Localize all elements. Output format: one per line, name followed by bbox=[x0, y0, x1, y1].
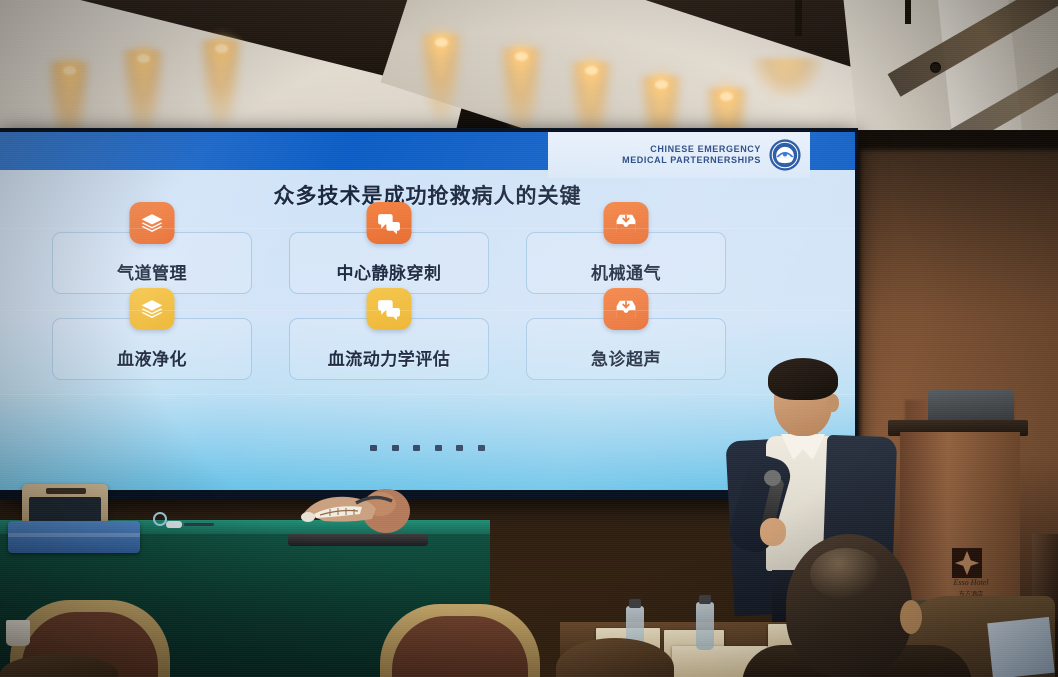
logo-line-2: MEDICAL PARTERNERSHIPS bbox=[622, 155, 761, 166]
logo-line-1: CHINESE EMERGENCY bbox=[622, 144, 761, 155]
downlight-source bbox=[655, 80, 668, 89]
slide-title: 众多技术是成功抢救病人的关键 bbox=[0, 180, 855, 210]
technique-card[interactable]: 气道管理 bbox=[52, 232, 252, 294]
water-bottle bbox=[696, 602, 714, 650]
downlight-source bbox=[515, 52, 528, 61]
card-label: 血流动力学评估 bbox=[328, 345, 451, 370]
presenter-hand bbox=[760, 518, 786, 546]
ellipsis-dot bbox=[456, 445, 463, 451]
audience-ear bbox=[900, 600, 922, 634]
slide-logo-text: CHINESE EMERGENCY MEDICAL PARTERNERSHIPS bbox=[622, 144, 761, 166]
screen-scanline bbox=[0, 228, 855, 229]
ellipsis-dot bbox=[370, 445, 377, 451]
chat-bubbles-icon bbox=[367, 202, 412, 244]
audience-head-highlight bbox=[810, 548, 882, 600]
technique-card[interactable]: 血液净化 bbox=[52, 318, 252, 380]
screen-scanline bbox=[0, 310, 855, 311]
ceiling-downlight bbox=[752, 58, 822, 98]
card-label: 血液净化 bbox=[117, 345, 187, 370]
technique-card[interactable]: 机械通气 bbox=[526, 232, 726, 294]
ceiling-pendant bbox=[905, 0, 911, 24]
airway-tubing bbox=[150, 512, 220, 534]
case-seam bbox=[8, 533, 140, 537]
downlight-source bbox=[720, 92, 733, 101]
downlight-source bbox=[63, 66, 76, 75]
podium-laptop bbox=[928, 390, 1014, 424]
paper-cup bbox=[6, 620, 30, 646]
technique-card[interactable]: 血流动力学评估 bbox=[289, 318, 489, 380]
card-label: 急诊超声 bbox=[591, 345, 661, 370]
card-label: 机械通气 bbox=[591, 259, 661, 284]
technique-card-grid: 气道管理 中心静脉穿刺 bbox=[52, 232, 732, 404]
presenter-hair bbox=[768, 358, 838, 400]
ellipsis-dot bbox=[392, 445, 399, 451]
layers-icon bbox=[130, 202, 175, 244]
technique-card[interactable]: 中心静脉穿刺 bbox=[289, 232, 489, 294]
conference-photo-scene: CHINESE EMERGENCY MEDICAL PARTERNERSHIPS… bbox=[0, 0, 1058, 677]
downlight-source bbox=[435, 38, 448, 47]
layers-icon bbox=[130, 288, 175, 330]
ceiling-recess-hole bbox=[930, 62, 941, 73]
card-label: 气道管理 bbox=[117, 259, 187, 284]
card-label: 中心静脉穿刺 bbox=[337, 259, 442, 284]
ceiling-pendant bbox=[795, 0, 802, 36]
card-row-1: 气道管理 中心静脉穿刺 bbox=[52, 232, 732, 294]
chat-bubbles-icon bbox=[367, 288, 412, 330]
equipment-case bbox=[8, 521, 140, 553]
ellipsis-dot bbox=[478, 445, 485, 451]
emblem-icon bbox=[768, 138, 802, 172]
handout-paper bbox=[987, 617, 1055, 677]
inbox-download-icon bbox=[604, 202, 649, 244]
downlight-source bbox=[137, 54, 150, 63]
slide-logo-plate: CHINESE EMERGENCY MEDICAL PARTERNERSHIPS bbox=[548, 132, 810, 178]
technique-card[interactable]: 急诊超声 bbox=[526, 318, 726, 380]
ellipsis-dot bbox=[413, 445, 420, 451]
hotel-logo-icon bbox=[952, 548, 982, 578]
podium-hotel-name: Esso Hotel bbox=[934, 578, 1008, 587]
monitor-handle bbox=[46, 488, 86, 494]
microphone-head bbox=[764, 470, 781, 486]
presenter-ear bbox=[827, 394, 839, 412]
inbox-download-icon bbox=[604, 288, 649, 330]
airway-manikin bbox=[300, 487, 412, 539]
ellipsis-dot bbox=[435, 445, 442, 451]
downlight-source bbox=[585, 66, 598, 75]
downlight-source bbox=[215, 44, 228, 53]
bottle-cap bbox=[699, 595, 711, 604]
bottle-cap bbox=[629, 599, 641, 608]
card-row-2: 血液净化 血流动力学评估 bbox=[52, 318, 732, 380]
ceiling bbox=[0, 0, 1058, 136]
